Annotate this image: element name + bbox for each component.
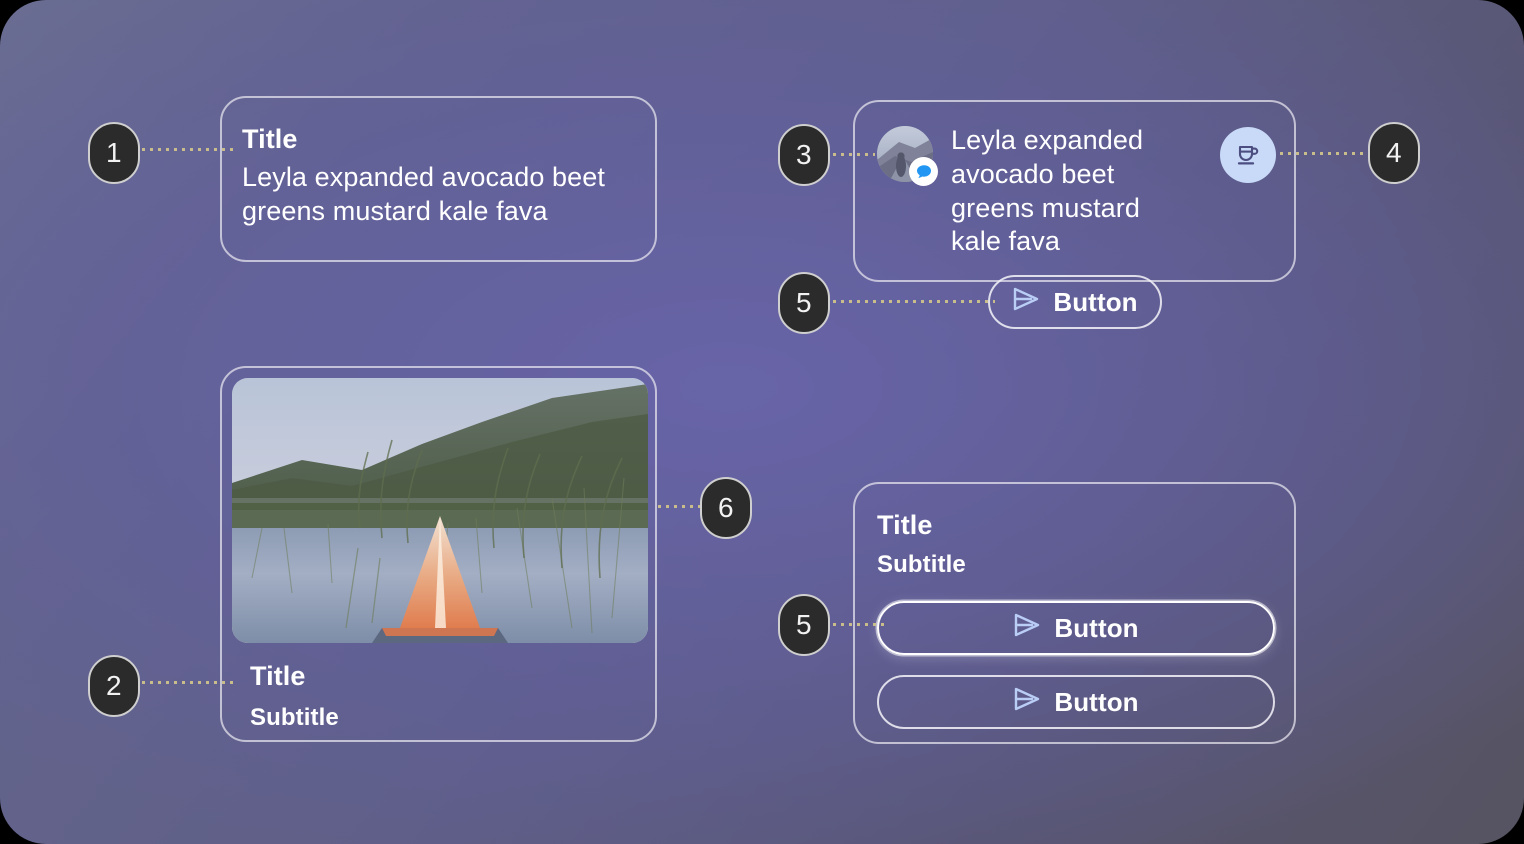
card-avatar-message[interactable]: Leyla expanded avocado beet greens musta… [853,100,1296,282]
annotation-badge-5a[interactable]: 5 [778,272,830,334]
chat-bubble-icon [909,157,938,186]
annotated-component-sheet: Title Leyla expanded avocado beet greens… [0,0,1524,844]
annotation-badge-1[interactable]: 1 [88,122,140,184]
annotation-badge-2[interactable]: 2 [88,655,140,717]
send-button-floating[interactable]: Button [988,275,1162,329]
card-media-subtitle: Subtitle [250,704,645,732]
connector-4 [1280,152,1366,155]
connector-1 [142,148,238,151]
send-button-secondary[interactable]: Button [877,675,1275,729]
card-media-title: Title [250,661,645,692]
connector-3 [833,153,875,156]
card-actions-title: Title [877,510,1274,541]
card-actions[interactable]: Title Subtitle Button Button [853,482,1296,744]
avatar-row: Leyla expanded avocado beet greens musta… [855,102,1294,259]
annotation-badge-5b[interactable]: 5 [778,594,830,656]
coffee-cup-icon[interactable] [1220,127,1276,183]
send-button-secondary-label: Button [1054,687,1138,718]
annotation-badge-3[interactable]: 3 [778,124,830,186]
annotation-badge-4[interactable]: 4 [1368,122,1420,184]
card-basic-title: Title [242,124,655,155]
card-avatar-body: Leyla expanded avocado beet greens musta… [951,124,1181,259]
card-basic[interactable]: Title Leyla expanded avocado beet greens… [220,96,657,262]
send-button-primary[interactable]: Button [877,601,1275,655]
send-button-primary-label: Button [1054,613,1138,644]
connector-2 [142,681,238,684]
send-icon [1013,686,1041,719]
avatar[interactable] [877,126,933,182]
card-media[interactable]: Title Subtitle [220,366,657,742]
send-icon [1013,612,1041,645]
connector-5b [833,623,885,626]
card-media-image [232,378,648,643]
annotation-badge-6[interactable]: 6 [700,477,752,539]
connector-6 [658,505,704,508]
send-button-floating-label: Button [1053,287,1137,318]
connector-5a [833,300,995,303]
card-actions-subtitle: Subtitle [877,551,1274,579]
card-basic-body: Leyla expanded avocado beet greens musta… [242,161,642,229]
send-icon [1012,286,1040,319]
